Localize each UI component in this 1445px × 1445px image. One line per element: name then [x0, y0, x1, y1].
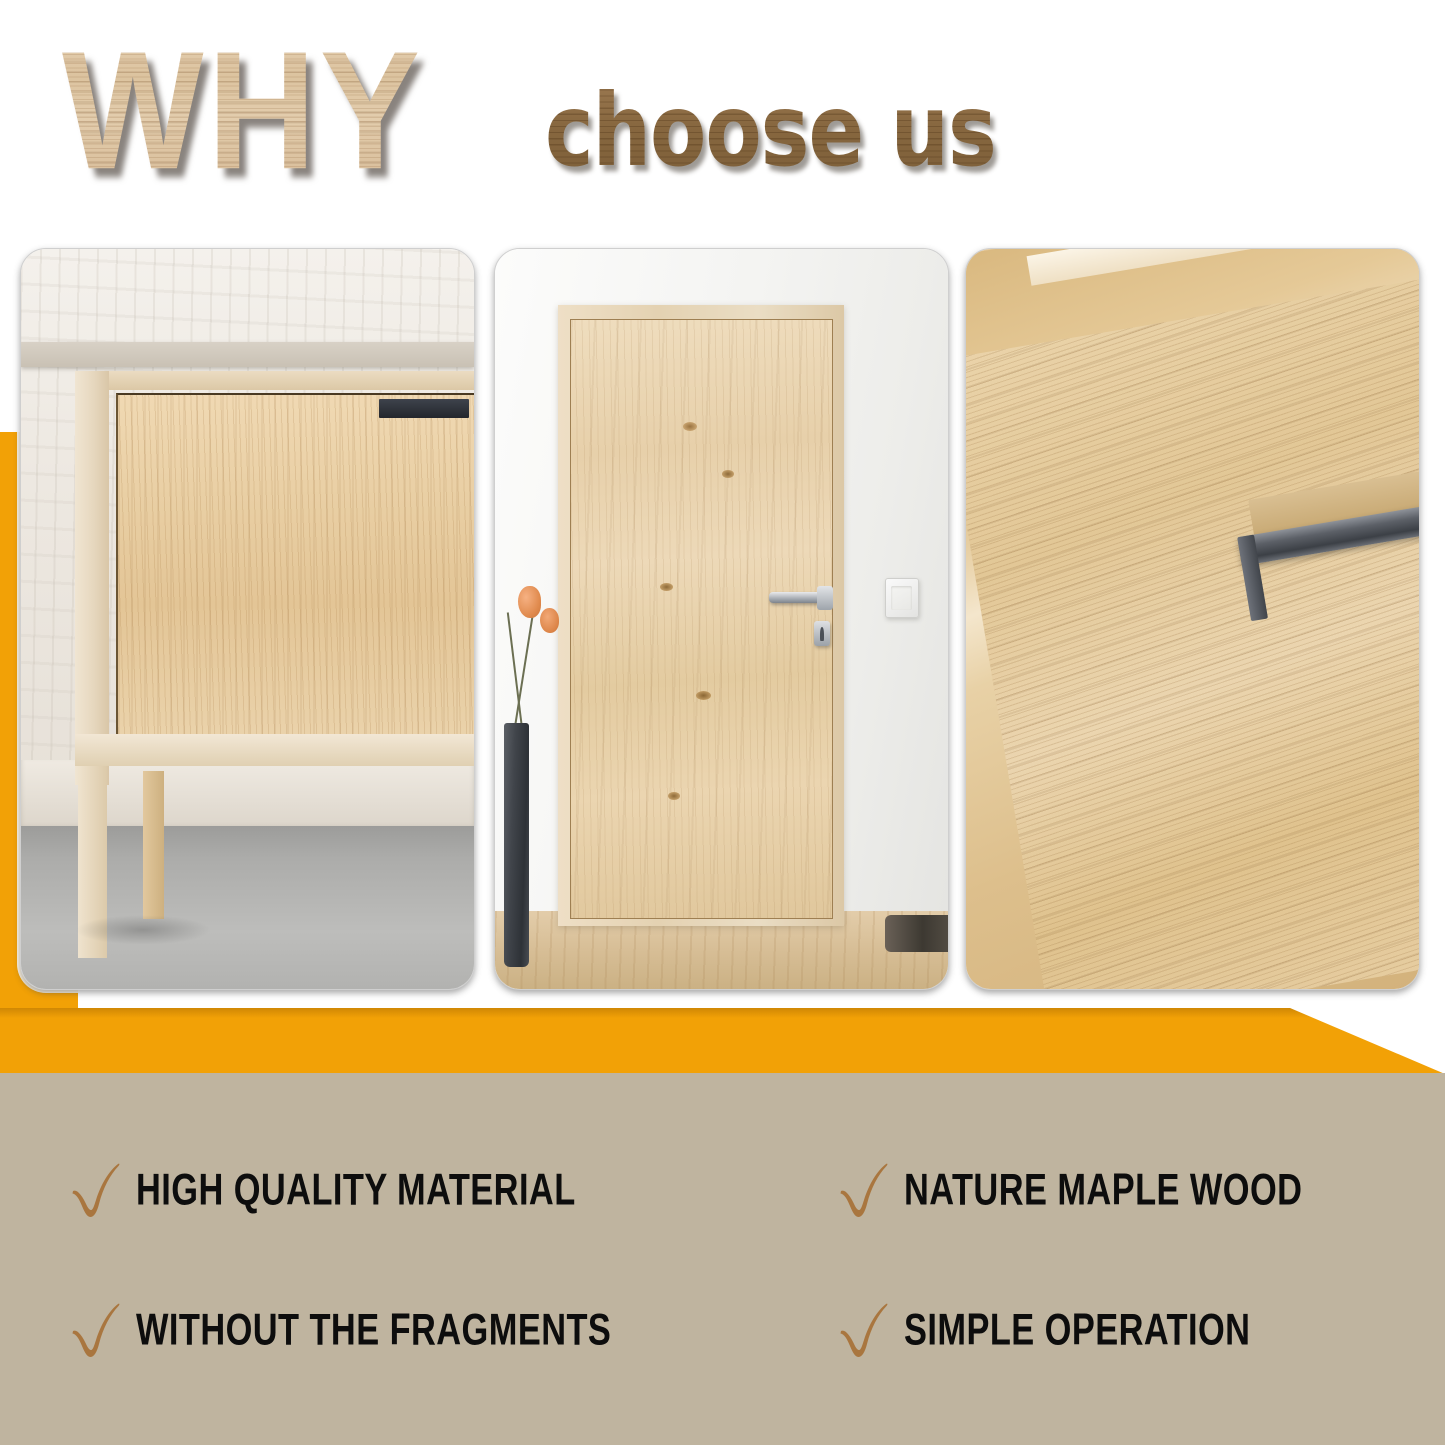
gallery-card-cabinet	[20, 248, 475, 990]
wall-ledge	[21, 342, 474, 368]
check-icon	[70, 1301, 122, 1359]
cabinet-photo	[21, 249, 474, 989]
feature-item-simple-operation: SIMPLE OPERATION	[838, 1301, 1307, 1359]
check-icon	[70, 1161, 122, 1219]
cabinet-floor-shadow	[75, 915, 211, 945]
feature-label: SIMPLE OPERATION	[904, 1305, 1250, 1355]
wood-knot	[668, 792, 680, 800]
orange-poppy-flower	[518, 586, 542, 619]
wood-knot	[660, 583, 673, 591]
maple-drawer-front	[965, 274, 1420, 990]
cabinet-drawer-front	[116, 393, 474, 733]
cabinet-top-panel	[75, 371, 474, 390]
check-icon	[838, 1161, 890, 1219]
cabinet-bottom-rail	[75, 734, 474, 767]
handle-rose-plate	[817, 586, 833, 610]
feature-label: HIGH QUALITY MATERIAL	[136, 1165, 576, 1215]
banner-header: WHY choose us	[0, 0, 1445, 230]
feature-item-high-quality-material: HIGH QUALITY MATERIAL	[70, 1161, 647, 1219]
orange-accent-bottom-wedge	[0, 1008, 1445, 1074]
gallery-card-door	[494, 248, 949, 990]
gallery-card-drawer-closeup	[965, 248, 1420, 990]
feature-item-without-the-fragments: WITHOUT THE FRAGMENTS	[70, 1301, 689, 1359]
door-keyhole-escutcheon	[814, 621, 830, 646]
door-mat	[885, 915, 948, 952]
product-feature-banner: WHY choose us	[0, 0, 1445, 1445]
feature-item-nature-maple-wood: NATURE MAPLE WOOD	[838, 1161, 1367, 1219]
wood-knot	[696, 691, 711, 700]
headline-choose-us: choose us	[545, 82, 996, 182]
light-switch	[885, 578, 919, 618]
feature-label: NATURE MAPLE WOOD	[904, 1165, 1302, 1215]
orange-poppy-flower	[540, 608, 559, 633]
wood-knot	[722, 470, 734, 478]
headline-why: WHY	[62, 26, 424, 194]
wood-knot	[683, 422, 697, 431]
feature-label: WITHOUT THE FRAGMENTS	[136, 1305, 611, 1355]
cabinet-side-panel	[75, 371, 109, 785]
features-list: HIGH QUALITY MATERIAL NATURE MAPLE WOOD …	[0, 1073, 1445, 1445]
door-photo	[495, 249, 948, 989]
oak-door-leaf	[570, 319, 833, 918]
cabinet-bar-handle	[379, 399, 470, 418]
drawer-closeup-photo	[966, 249, 1419, 989]
cabinet-leg-right	[143, 771, 164, 919]
door-lever-handle	[769, 592, 821, 603]
check-icon	[838, 1301, 890, 1359]
dark-floor-vase	[504, 723, 529, 967]
